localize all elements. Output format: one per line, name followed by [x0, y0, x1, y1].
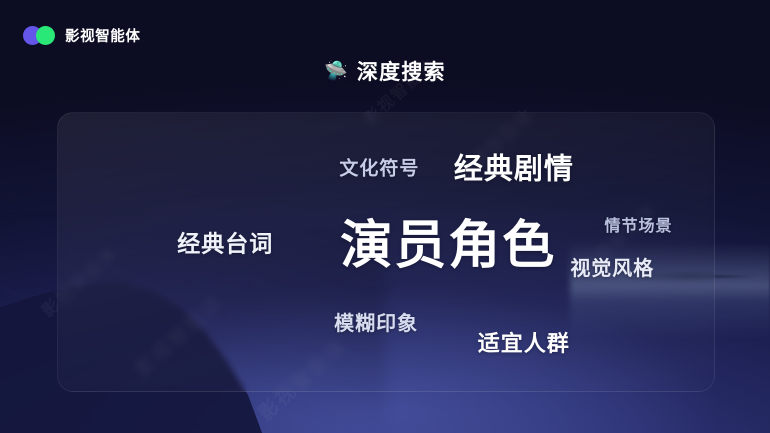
flying-saucer-icon: 🛸	[324, 62, 348, 81]
word-cloud-keyword[interactable]: 情节场景	[605, 219, 673, 235]
word-cloud-keyword[interactable]: 演员角色	[340, 220, 556, 272]
app-root: 影视智能体 影视智能体 影视智能体 影视智能体 影视智能体 影视智能体 影视智能…	[0, 0, 770, 433]
word-cloud-keyword[interactable]: 视觉风格	[570, 259, 654, 279]
page-title-text: 深度搜索	[357, 56, 446, 86]
word-cloud-keyword[interactable]: 经典剧情	[454, 155, 574, 184]
page-title: 🛸 深度搜索	[0, 56, 770, 86]
word-cloud-card: 文化符号经典剧情经典台词演员角色情节场景视觉风格模糊印象适宜人群	[57, 112, 715, 392]
logo-dot-green-icon	[36, 26, 55, 45]
word-cloud-keyword[interactable]: 文化符号	[339, 159, 419, 178]
word-cloud-keyword[interactable]: 模糊印象	[334, 314, 418, 334]
word-cloud-container: 文化符号经典剧情经典台词演员角色情节场景视觉风格模糊印象适宜人群	[58, 113, 714, 391]
word-cloud-keyword[interactable]: 经典台词	[177, 232, 273, 255]
app-logo-icon	[23, 26, 56, 45]
brand-name: 影视智能体	[65, 25, 141, 46]
word-cloud-keyword[interactable]: 适宜人群	[478, 333, 570, 355]
brand-logo-group[interactable]: 影视智能体	[23, 25, 141, 46]
